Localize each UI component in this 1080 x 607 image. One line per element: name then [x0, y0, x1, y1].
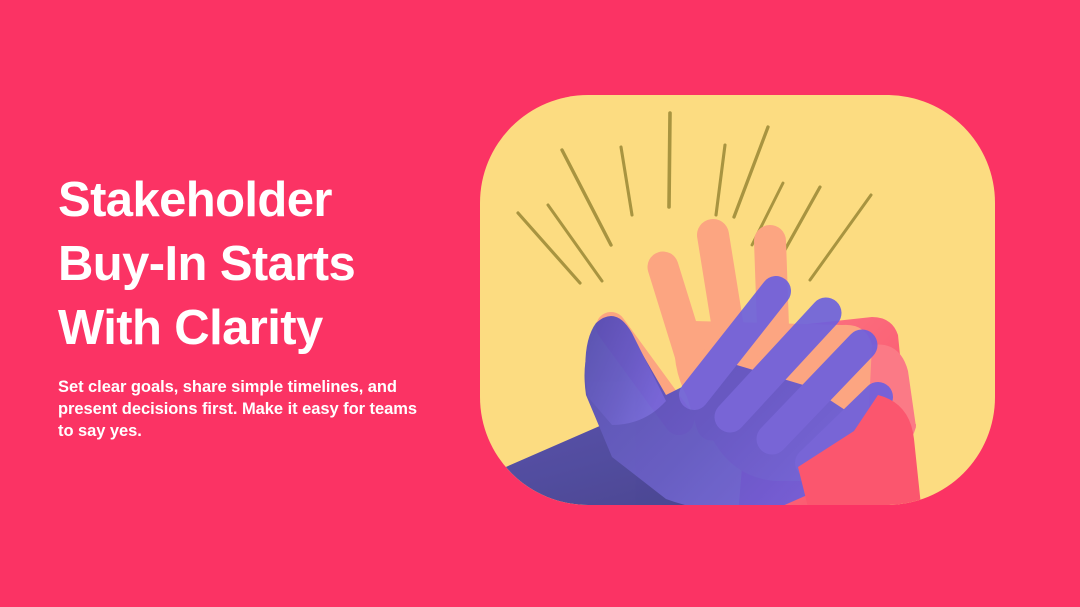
slide-canvas: Stakeholder Buy-In Starts With Clarity S… [0, 0, 1080, 607]
impact-line [562, 150, 611, 245]
impact-line [716, 145, 725, 215]
impact-line [548, 205, 602, 281]
subtitle-text: Set clear goals, share simple timelines,… [58, 376, 430, 442]
text-column: Stakeholder Buy-In Starts With Clarity S… [58, 168, 438, 442]
impact-line [621, 147, 632, 215]
high-five-illustration [480, 95, 995, 505]
illustration-panel [480, 95, 995, 505]
impact-line [518, 213, 580, 283]
page-title: Stakeholder Buy-In Starts With Clarity [58, 168, 438, 360]
impact-line [669, 113, 670, 207]
illustration-container [480, 95, 995, 505]
impact-lines-group [518, 113, 871, 283]
impact-line [810, 195, 871, 280]
impact-line [734, 127, 768, 217]
